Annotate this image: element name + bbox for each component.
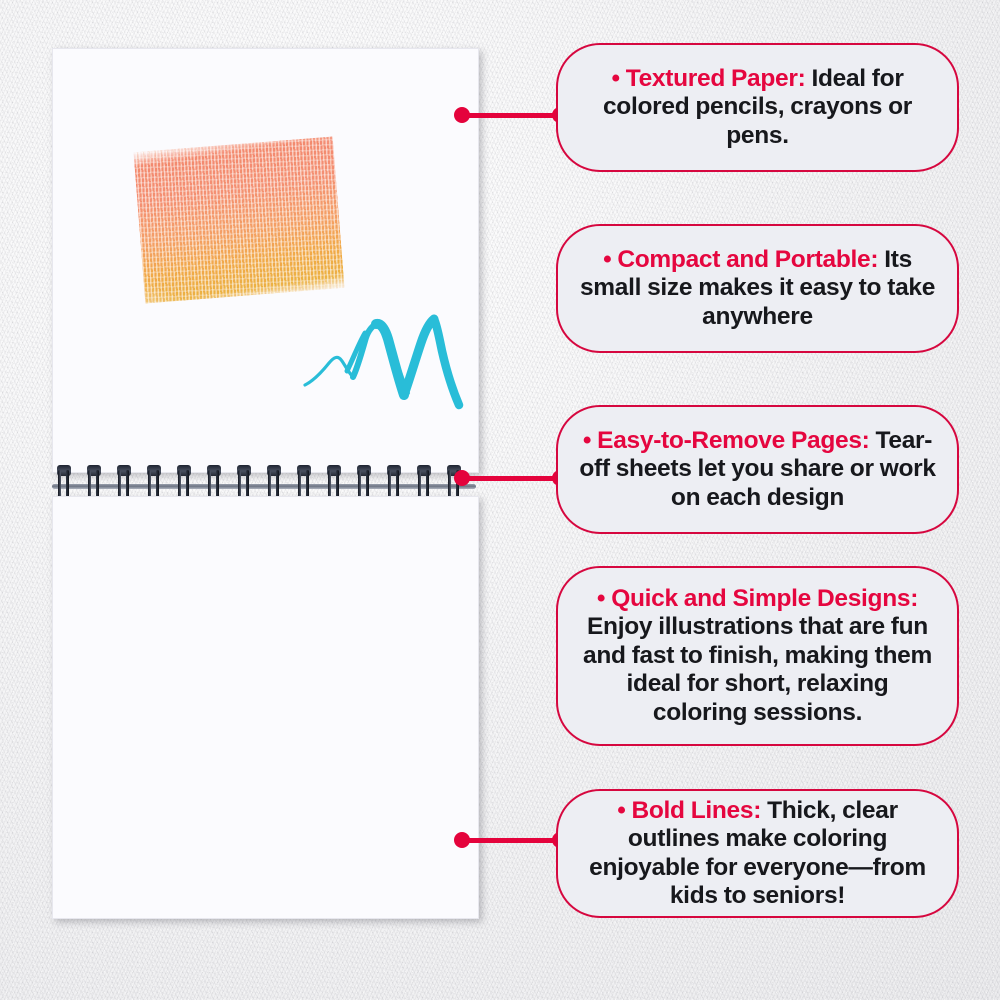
feature-text: • Bold Lines: Thick, clear outlines make… xyxy=(578,797,937,911)
feature-heading: Textured Paper: xyxy=(626,65,806,92)
infographic-canvas: • Textured Paper: Ideal for colored penc… xyxy=(0,0,1000,1000)
feature-heading: Quick and Simple Designs: xyxy=(611,585,918,612)
feature-callout-textured-paper: • Textured Paper: Ideal for colored penc… xyxy=(556,43,959,172)
connector-bar xyxy=(462,476,560,481)
connector-bar xyxy=(462,113,560,118)
feature-heading: Easy-to-Remove Pages: xyxy=(597,427,869,454)
crayon-scribble-texture xyxy=(133,136,344,303)
feature-text: • Compact and Portable: Its small size m… xyxy=(578,246,937,331)
feature-bullet: • xyxy=(617,797,625,824)
feature-bullet: • xyxy=(603,246,611,273)
notepad-top-sheet xyxy=(52,48,479,473)
feature-text: • Textured Paper: Ideal for colored penc… xyxy=(578,65,937,150)
connector-bar xyxy=(462,838,560,843)
connector-line-bold-lines xyxy=(455,836,567,844)
feature-callout-easy-to-remove-pages: • Easy-to-Remove Pages: Tear-off sheets … xyxy=(556,405,959,534)
feature-callout-bold-lines: • Bold Lines: Thick, clear outlines make… xyxy=(556,789,959,918)
marker-scribble-swatch xyxy=(303,289,483,429)
feature-text: • Quick and Simple Designs: Enjoy illust… xyxy=(578,585,937,727)
notepad-product-photo xyxy=(52,48,479,919)
feature-callout-compact-and-portable: • Compact and Portable: Its small size m… xyxy=(556,224,959,353)
feature-heading: Bold Lines: xyxy=(631,797,761,824)
feature-body: Enjoy illustrations that are fun and fas… xyxy=(583,613,932,725)
notepad-bottom-sheet xyxy=(52,496,479,919)
feature-heading: Compact and Portable: xyxy=(617,246,878,273)
feature-bullet: • xyxy=(611,65,619,92)
feature-text: • Easy-to-Remove Pages: Tear-off sheets … xyxy=(578,427,937,512)
feature-bullet: • xyxy=(583,427,591,454)
feature-callout-quick-and-simple-designs: • Quick and Simple Designs: Enjoy illust… xyxy=(556,566,959,746)
connector-line-textured-paper xyxy=(455,111,567,119)
connector-line-easy-to-remove-pages xyxy=(455,474,567,482)
feature-bullet: • xyxy=(597,585,605,612)
